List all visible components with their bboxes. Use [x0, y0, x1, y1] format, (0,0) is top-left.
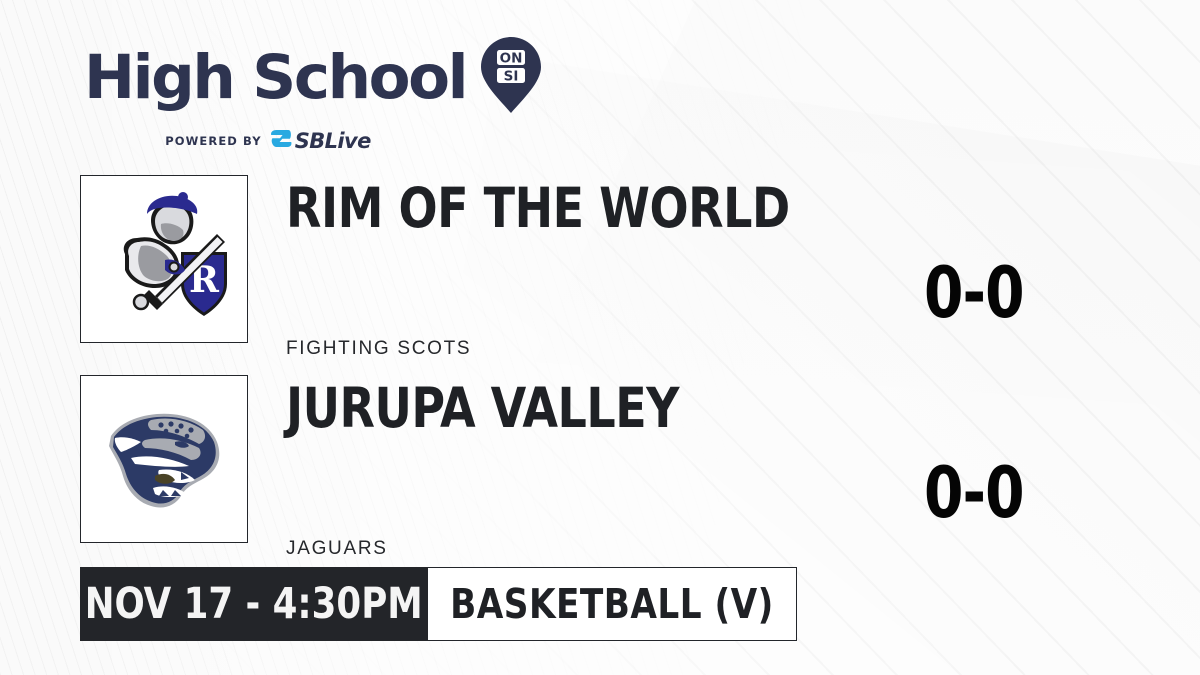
team-record: 0-0	[924, 458, 1024, 528]
team-logo-box[interactable]	[80, 375, 248, 543]
team-name: RIM OF THE WORLD	[286, 181, 790, 236]
sport-label-bar[interactable]: BASKETBALL (V)	[428, 567, 797, 641]
jaguar-head-logo-icon	[89, 384, 239, 534]
footer-info-bars: NOV 17 - 4:30PM BASKETBALL (V)	[80, 567, 797, 641]
game-datetime-text: NOV 17 - 4:30PM	[85, 583, 423, 626]
game-datetime-bar[interactable]: NOV 17 - 4:30PM	[80, 567, 428, 641]
team-mascot: FIGHTING SCOTS	[286, 338, 471, 360]
sport-label-text: BASKETBALL (V)	[450, 584, 774, 625]
team-name: JURUPA VALLEY	[286, 381, 679, 436]
team-mascot: JAGUARS	[286, 538, 388, 560]
matchup-graphic: High School ON SI POWERED BY SB	[0, 0, 1200, 675]
team-logo-box[interactable]: R	[80, 175, 248, 343]
team-record: 0-0	[924, 258, 1024, 328]
fighting-scot-mascot-logo-icon: R	[89, 184, 239, 334]
